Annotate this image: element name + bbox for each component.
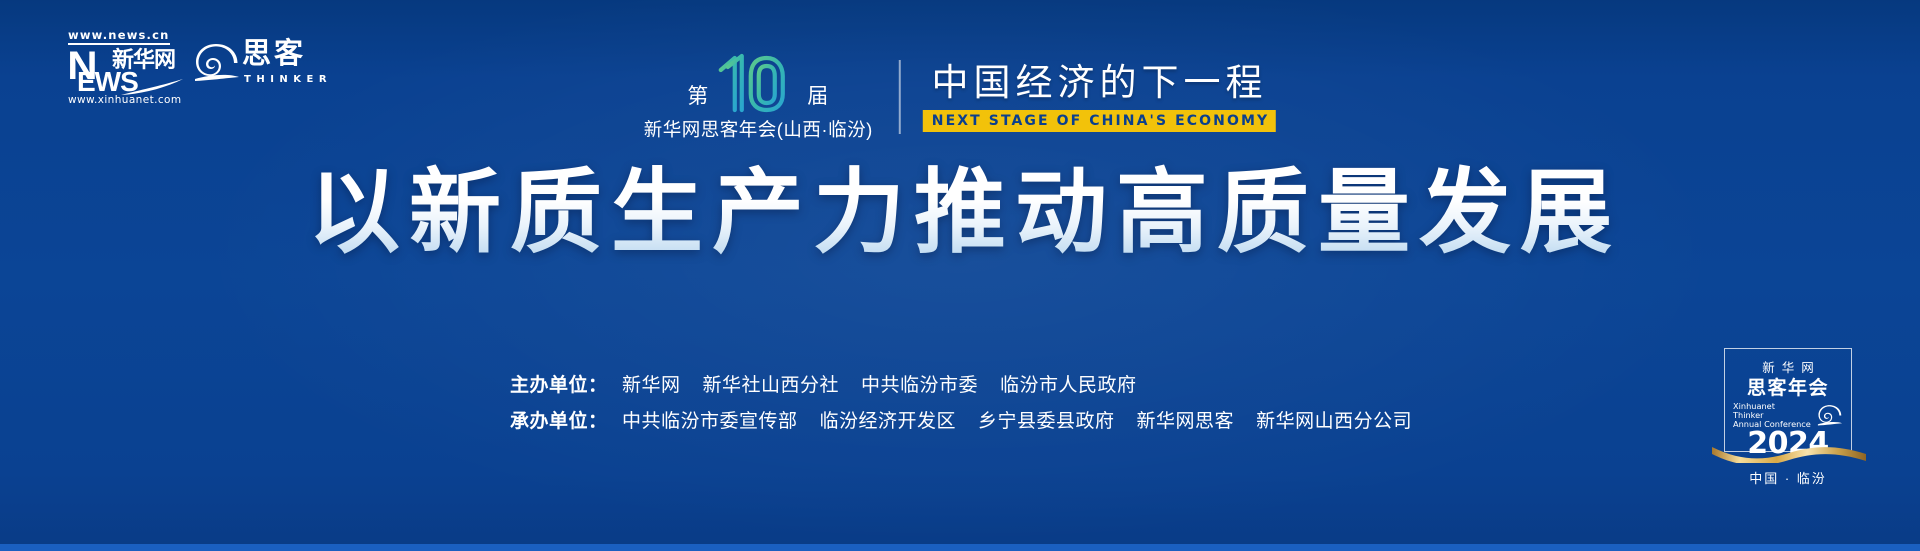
thinker-logo[interactable]: 思客 THINKER [194, 40, 314, 96]
thinker-en-name: THINKER [244, 74, 332, 85]
xinhuanet-wordmark: N EWS 新华网 [68, 48, 180, 92]
slogan-block: 中国经济的下一程 NEXT STAGE OF CHINA'S ECONOMY [923, 62, 1276, 132]
edition-row: 第 [687, 52, 829, 114]
organizer-item: 新华网山西分公司 [1256, 406, 1412, 433]
organizer-label-coorganizer: 承办单位： [510, 406, 622, 433]
xinhuanet-url-top: www.news.cn [68, 28, 170, 45]
organizer-item: 临汾经济开发区 [820, 406, 957, 433]
header-divider [899, 60, 901, 134]
organizer-item: 中共临汾市委 [861, 370, 978, 397]
emblem-org-name: 新华网 [1731, 357, 1845, 376]
swoosh-icon [120, 78, 184, 96]
event-header: 第 [644, 52, 1276, 142]
bottom-accent-strip [0, 544, 1920, 551]
emblem-city: 中国 · 临汾 [1724, 468, 1852, 487]
organizer-label-host: 主办单位： [510, 370, 622, 397]
thinker-swirl-icon [194, 42, 240, 82]
edition-subtitle: 新华网思客年会(山西·临汾) [644, 116, 873, 142]
organizer-row-coorganizer: 承办单位： 中共临汾市委宣传部 临汾经济开发区 乡宁县委县政府 新华网思客 新华… [510, 406, 1410, 433]
organizer-item: 新华社山西分社 [703, 370, 840, 397]
organizer-item: 临汾市人民政府 [1000, 370, 1137, 397]
emblem-thinker-swirl-icon [1817, 404, 1843, 426]
slogan-english-banner: NEXT STAGE OF CHINA'S ECONOMY [923, 110, 1276, 132]
emblem-event-name: 思客年会 [1731, 377, 1845, 401]
thinker-cn-name: 思客 [242, 38, 306, 70]
conference-emblem: 新华网 思客年会 Xinhuanet Thinker Annual Confer… [1724, 348, 1852, 487]
gold-ribbon-icon [1712, 441, 1866, 463]
edition-prefix: 第 [687, 80, 709, 114]
organizer-row-host: 主办单位： 新华网 新华社山西分社 中共临汾市委 临汾市人民政府 [510, 370, 1410, 397]
conference-banner: www.news.cn N EWS 新华网 www.xinhuanet.com … [0, 0, 1920, 551]
organizers-block: 主办单位： 新华网 新华社山西分社 中共临汾市委 临汾市人民政府 承办单位： 中… [510, 370, 1410, 442]
organizer-item: 新华网思客 [1137, 406, 1235, 433]
edition-suffix: 届 [807, 80, 829, 114]
slogan-chinese: 中国经济的下一程 [931, 62, 1267, 106]
emblem-frame: 新华网 思客年会 Xinhuanet Thinker Annual Confer… [1724, 348, 1852, 452]
organizer-item: 乡宁县委县政府 [978, 406, 1115, 433]
brand-logo-lockup[interactable]: www.news.cn N EWS 新华网 www.xinhuanet.com … [68, 26, 314, 106]
organizer-item: 新华网 [622, 370, 681, 397]
edition-block: 第 [644, 52, 877, 142]
edition-number-10-icon [715, 52, 801, 114]
organizer-item: 中共临汾市委宣传部 [622, 406, 798, 433]
organizer-items-host: 新华网 新华社山西分社 中共临汾市委 临汾市人民政府 [622, 370, 1137, 397]
xinhuanet-cn-name: 新华网 [112, 48, 175, 71]
xinhuanet-logo[interactable]: www.news.cn N EWS 新华网 www.xinhuanet.com [68, 26, 176, 106]
organizer-items-coorganizer: 中共临汾市委宣传部 临汾经济开发区 乡宁县委县政府 新华网思客 新华网山西分公司 [622, 406, 1412, 433]
page-title: 以新质生产力推动高质量发展 [0, 158, 1920, 268]
